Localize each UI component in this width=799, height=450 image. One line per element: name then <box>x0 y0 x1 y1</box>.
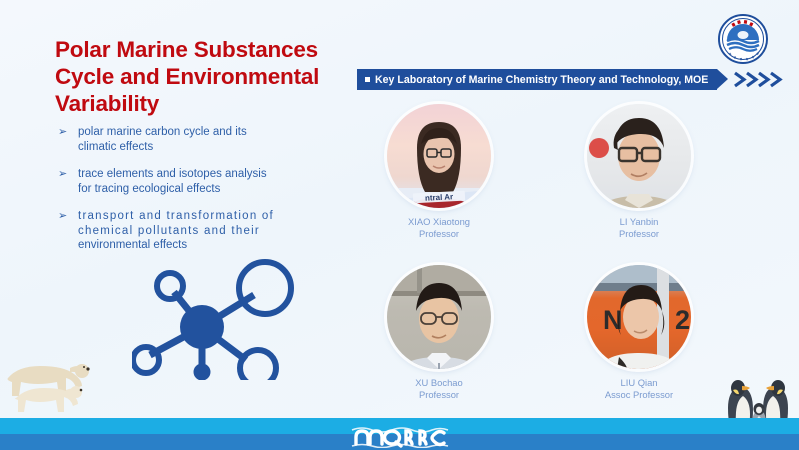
list-item-line: transport and transformation of <box>78 209 358 224</box>
person-role: Assoc Professor <box>573 389 705 401</box>
portrait-xu-bochao-avatar <box>387 265 491 369</box>
list-item-line: for tracing ecological effects <box>78 182 358 197</box>
svg-text:ntral Ar: ntral Ar <box>425 192 454 202</box>
polar-bears-photo <box>0 352 112 422</box>
person-name: LI Yanbin <box>573 216 705 228</box>
person-name: XIAO Xiaotong <box>373 216 505 228</box>
banner-bar: Key Laboratory of Marine Chemistry Theor… <box>357 69 717 90</box>
person-role: Professor <box>373 389 505 401</box>
chevron-arrows-icon <box>732 69 790 90</box>
presentation-slide: Polar Marine Substances Cycle and Enviro… <box>0 0 799 450</box>
section-banner: Key Laboratory of Marine Chemistry Theor… <box>357 69 790 90</box>
list-item: ➢ transport and transformation of chemic… <box>58 209 358 253</box>
avatar: ntral Ar <box>387 104 491 208</box>
avatar <box>387 265 491 369</box>
person-role: Professor <box>373 228 505 240</box>
arrow-bullet-icon: ➢ <box>58 167 67 182</box>
list-item-line: trace elements and isotopes analysis <box>78 167 358 182</box>
research-topics-list: ➢ polar marine carbon cycle and its clim… <box>58 125 358 266</box>
person-name: LIU Qian <box>573 377 705 389</box>
title-line-2: Cycle and Environmental <box>55 63 365 90</box>
avatar: N O 2 <box>587 265 691 369</box>
title-line-3: Variability <box>55 90 365 117</box>
svg-text:2: 2 <box>675 305 690 335</box>
person-name: XU Bochao <box>373 377 505 389</box>
arrow-bullet-icon: ➢ <box>58 125 67 140</box>
footer-script-logo <box>348 424 452 448</box>
page-title: Polar Marine Substances Cycle and Enviro… <box>55 36 365 117</box>
portrait-li-yanbin-avatar <box>587 104 691 208</box>
molecule-network-icon <box>132 250 317 380</box>
person-card: ntral Ar XIAO Xiaotong Professor <box>373 104 505 239</box>
list-item-line: climatic effects <box>78 140 358 155</box>
person-card: N O 2 LIU Qian Assoc Professor <box>573 265 705 400</box>
portrait-liu-qian-avatar: N O 2 <box>587 265 691 369</box>
list-item: ➢ trace elements and isotopes analysis f… <box>58 167 358 196</box>
title-line-1: Polar Marine Substances <box>55 36 365 63</box>
list-item: ➢ polar marine carbon cycle and its clim… <box>58 125 358 154</box>
person-card: LI Yanbin Professor <box>573 104 705 239</box>
person-card: XU Bochao Professor <box>373 265 505 400</box>
avatar <box>587 104 691 208</box>
square-bullet-icon <box>365 77 370 82</box>
person-role: Professor <box>573 228 705 240</box>
list-item-line: chemical pollutants and their <box>78 224 358 239</box>
banner-label: Key Laboratory of Marine Chemistry Theor… <box>375 74 708 86</box>
portrait-xiao-xiaotong-avatar: ntral Ar <box>387 104 491 208</box>
list-item-line: polar marine carbon cycle and its <box>78 125 358 140</box>
arrow-bullet-icon: ➢ <box>58 209 68 224</box>
ouc-university-emblem-icon <box>716 13 770 65</box>
